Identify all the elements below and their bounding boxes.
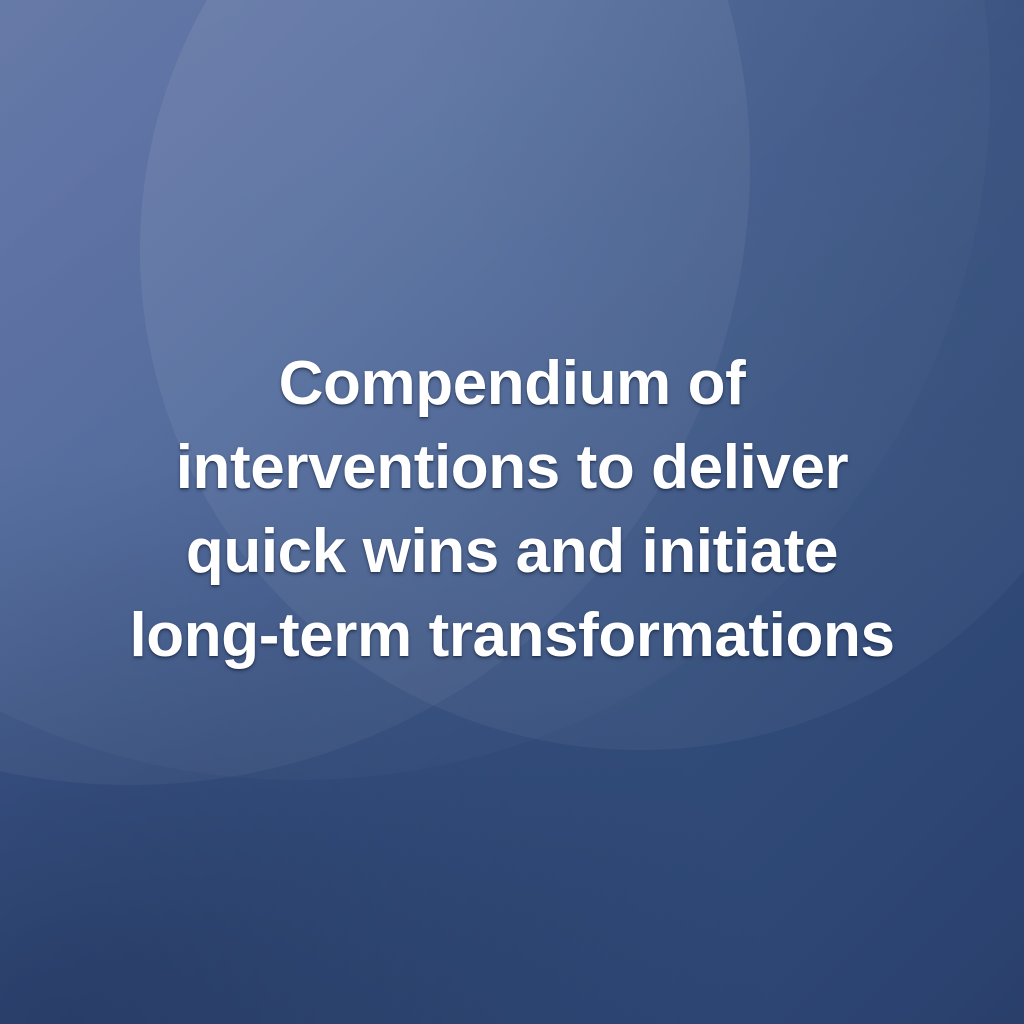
title-line-1: Compendium of <box>48 342 976 426</box>
title-line-4: long-term transformations <box>48 594 976 678</box>
title-text-block: Compendium of interventions to deliver q… <box>0 342 1024 678</box>
title-card: Compendium of interventions to deliver q… <box>0 0 1024 1024</box>
title-line-3: quick wins and initiate <box>48 510 976 594</box>
title-line-2: interventions to deliver <box>48 426 976 510</box>
